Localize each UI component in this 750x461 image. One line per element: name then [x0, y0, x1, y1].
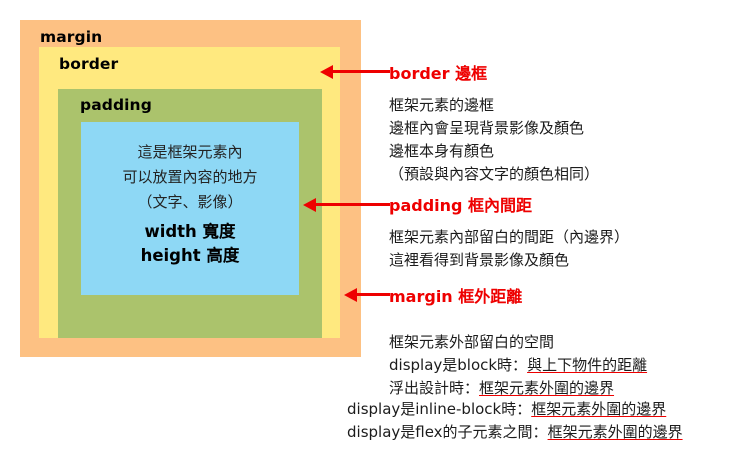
content-width-label: width 寬度: [81, 220, 299, 244]
annotation-line: 框架元素的邊框: [389, 94, 599, 117]
annotation-line-float: 浮出設計時：框架元素外圍的邊界: [389, 379, 614, 397]
content-dimensions: width 寬度 height 高度: [81, 220, 299, 268]
border-label: border: [59, 55, 118, 73]
annotation-line: display是block時：與上下物件的距離: [389, 354, 647, 377]
content-layer: 這是框架元素內 可以放置內容的地方 （文字、影像） width 寬度 heigh…: [81, 122, 299, 295]
bottom-notes: display是inline-block時：框架元素外圍的邊界 display是…: [347, 398, 683, 444]
padding-label: padding: [80, 96, 152, 114]
margin-label: margin: [40, 28, 102, 46]
box-model-diagram: margin border padding 這是框架元素內 可以放置內容的地方 …: [20, 20, 361, 357]
annotation-line: 邊框內會呈現背景影像及顏色: [389, 117, 599, 140]
bottom-note-flex: display是flex的子元素之間：框架元素外圍的邊界: [347, 421, 683, 444]
content-description: 這是框架元素內 可以放置內容的地方 （文字、影像）: [81, 140, 299, 215]
bottom-note-prefix: display是flex的子元素之間：: [347, 423, 548, 441]
annotation-line: 框架元素內部留白的間距（內邊界）: [389, 226, 629, 249]
annotation-line: （預設與內容文字的顏色相同）: [389, 163, 599, 186]
bottom-note-underlined: 框架元素外圍的邊界: [531, 400, 666, 418]
arrow-shaft-icon: [331, 70, 390, 73]
padding-annotation-body: 框架元素內部留白的間距（內邊界） 這裡看得到背景影像及顏色: [389, 226, 629, 272]
annotation-line: 浮出設計時：框架元素外圍的邊界: [389, 377, 647, 400]
annotation-line-block: display是block時：與上下物件的距離: [389, 356, 647, 374]
border-annotation-title: border 邊框: [389, 60, 599, 84]
annotation-line-prefix: display是block時：: [389, 356, 527, 374]
content-description-line: （文字、影像）: [81, 190, 299, 215]
annotation-line: 這裡看得到背景影像及顏色: [389, 249, 629, 272]
content-description-line: 可以放置內容的地方: [81, 165, 299, 190]
content-height-label: height 高度: [81, 244, 299, 268]
annotation-line-prefix: 浮出設計時：: [389, 379, 479, 397]
annotation-line-underlined: 與上下物件的距離: [527, 356, 647, 374]
annotation-line-underlined: 框架元素外圍的邊界: [479, 379, 614, 397]
annotation-line: 框架元素外部留白的空間: [389, 331, 647, 354]
margin-annotation: margin 框外距離 框架元素外部留白的空間 display是block時：與…: [389, 283, 647, 400]
margin-annotation-body: 框架元素外部留白的空間 display是block時：與上下物件的距離 浮出設計…: [389, 331, 647, 400]
bottom-note-prefix: display是inline-block時：: [347, 400, 531, 418]
bottom-note-underlined: 框架元素外圍的邊界: [548, 423, 683, 441]
padding-annotation: padding 框內間距 框架元素內部留白的間距（內邊界） 這裡看得到背景影像及…: [389, 192, 629, 272]
content-description-line: 這是框架元素內: [81, 140, 299, 165]
annotation-line: 邊框本身有顏色: [389, 140, 599, 163]
border-annotation-body: 框架元素的邊框 邊框內會呈現背景影像及顏色 邊框本身有顏色 （預設與內容文字的顏…: [389, 94, 599, 186]
bottom-note-inline-block: display是inline-block時：框架元素外圍的邊界: [347, 398, 683, 421]
arrow-shaft-icon: [355, 293, 390, 296]
margin-annotation-title: margin 框外距離: [389, 283, 647, 307]
arrow-shaft-icon: [314, 203, 390, 206]
padding-annotation-title: padding 框內間距: [389, 192, 629, 216]
border-annotation: border 邊框 框架元素的邊框 邊框內會呈現背景影像及顏色 邊框本身有顏色 …: [389, 60, 599, 186]
